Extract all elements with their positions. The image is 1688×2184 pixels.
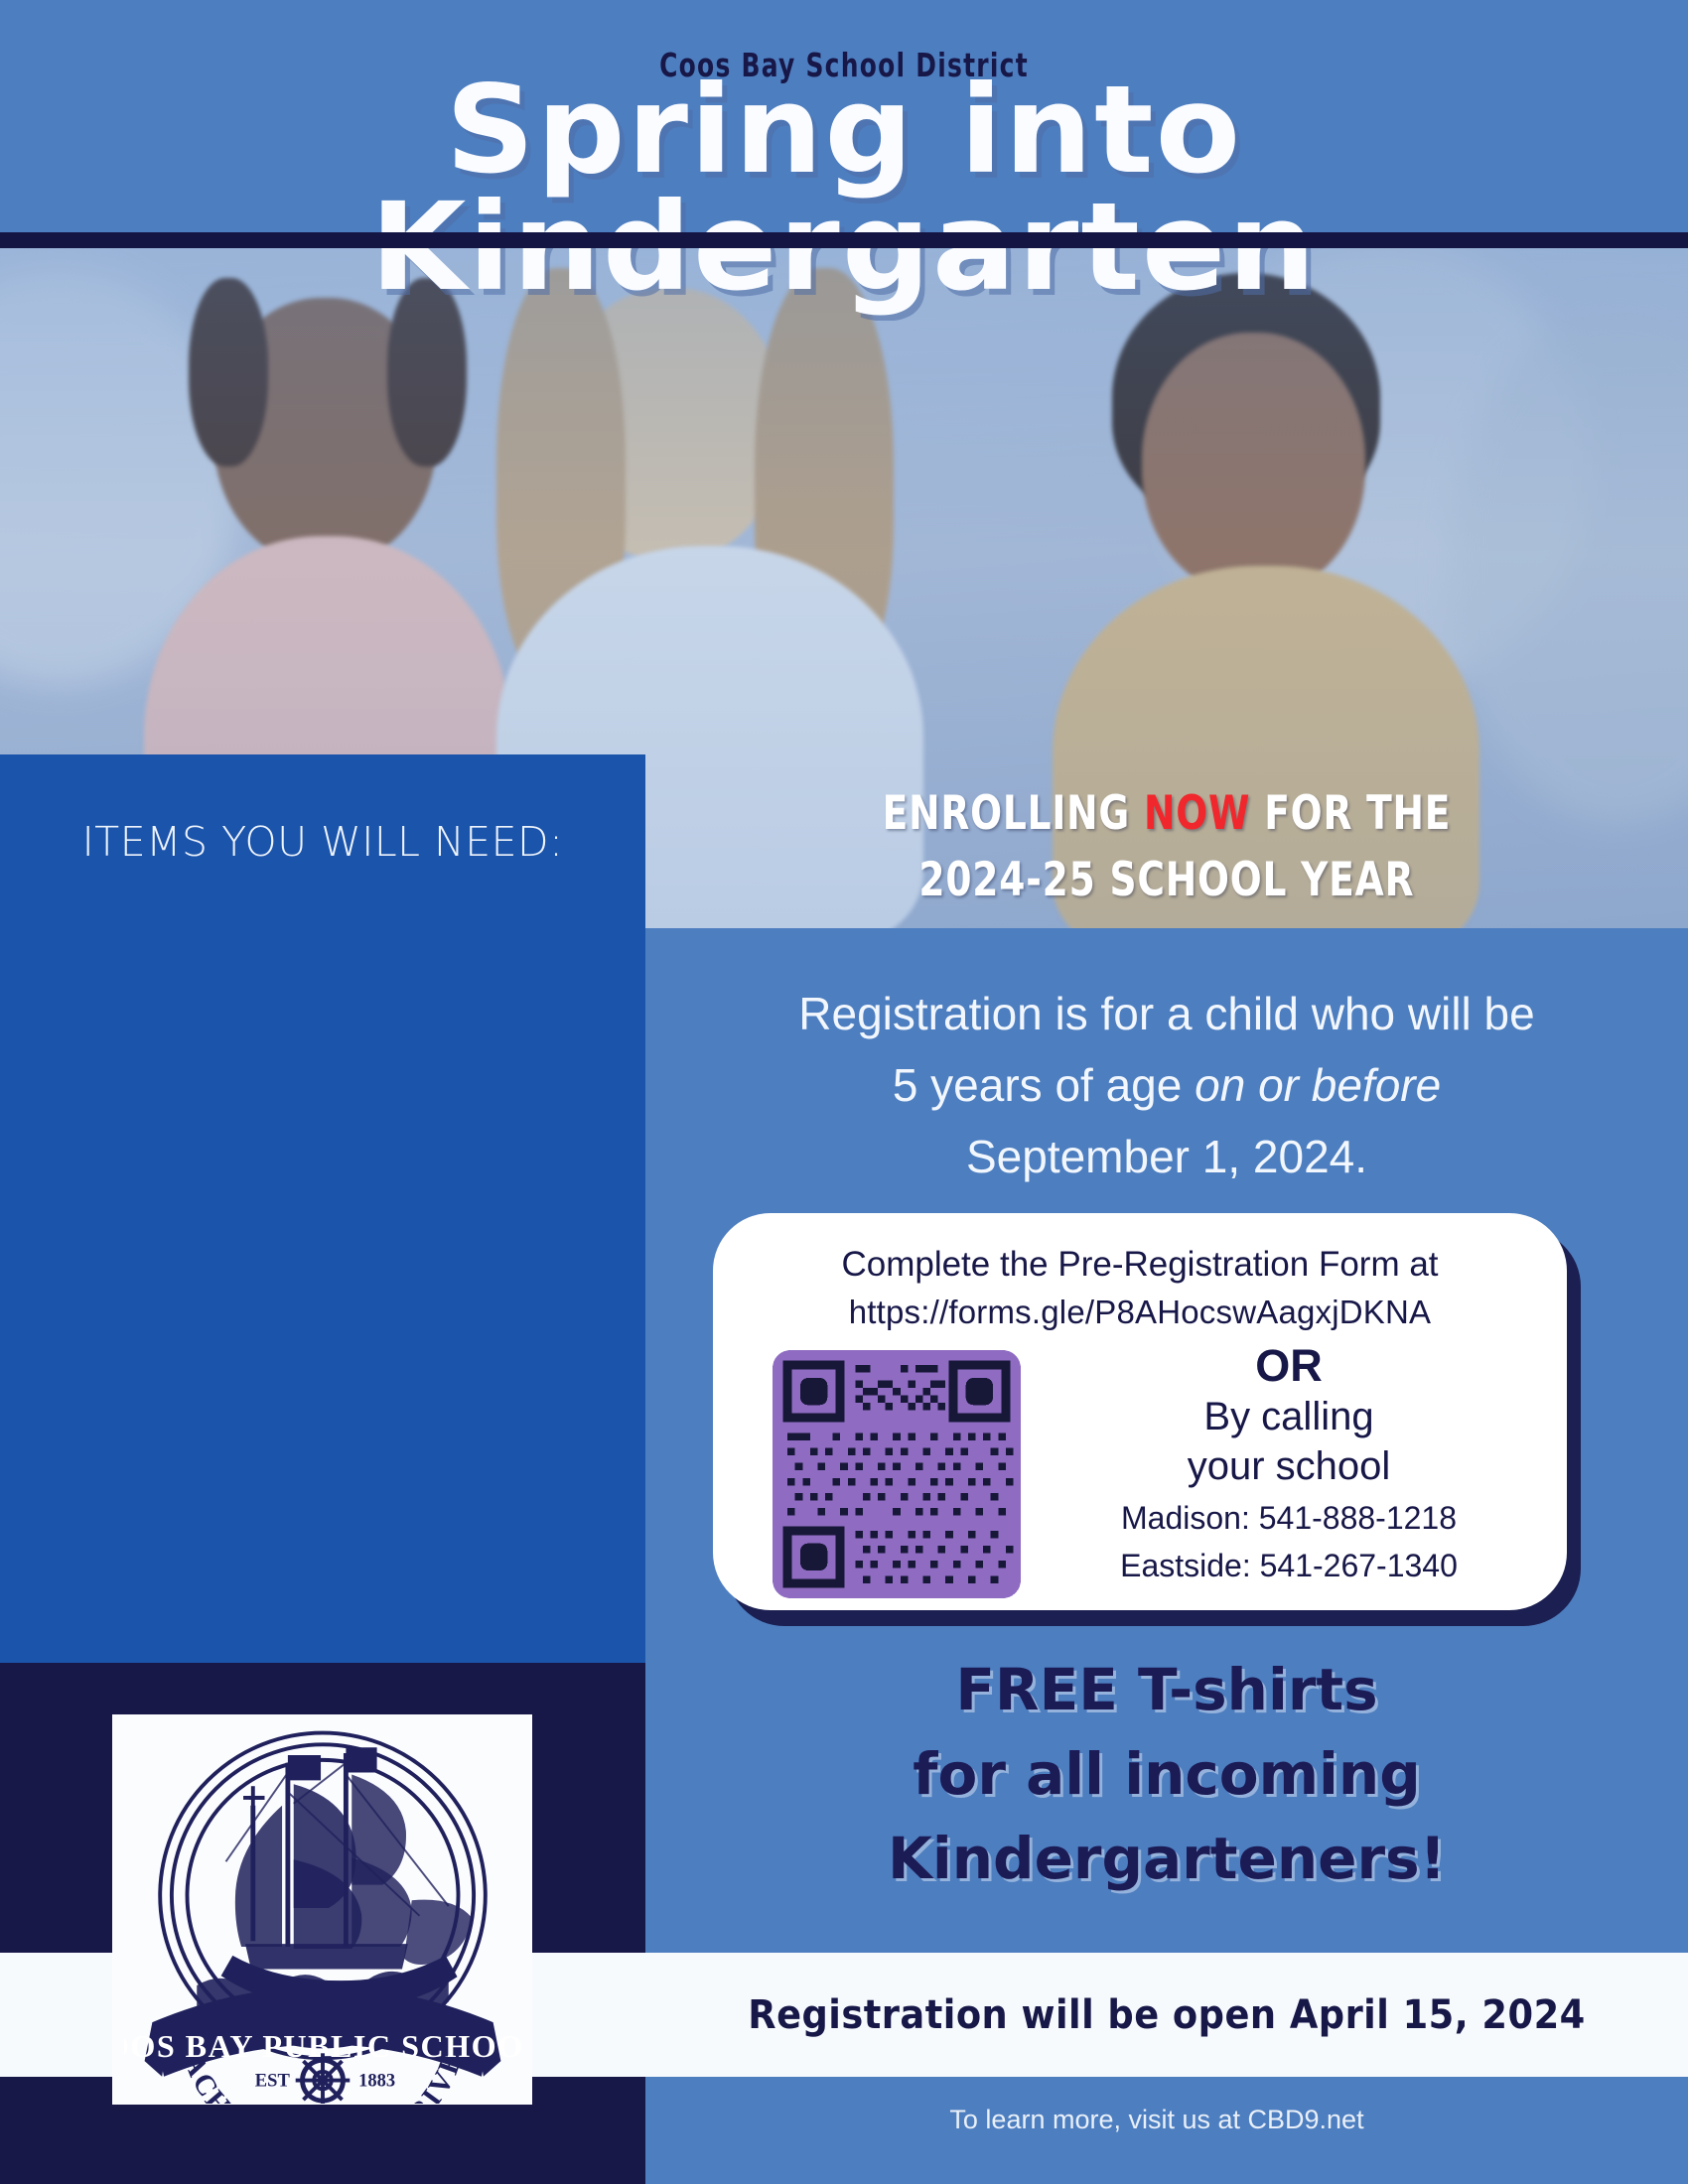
enrolling-prefix: ENROLLING xyxy=(883,786,1144,841)
eligibility-text: Registration is for a child who will be … xyxy=(660,978,1673,1192)
logo-est-label: EST xyxy=(254,2070,290,2091)
items-heading-label: ITEMS YOU WILL NEED: xyxy=(82,818,564,866)
qr-code-icon[interactable] xyxy=(773,1350,1021,1598)
eligibility-line-2-italic: on or before xyxy=(1195,1059,1441,1111)
card-prompt: Complete the Pre-Registration Form at xyxy=(713,1241,1567,1289)
phone-madison[interactable]: Madison: 541-888-1218 xyxy=(1041,1497,1537,1539)
enrolling-suffix: FOR THE xyxy=(1250,786,1451,841)
card-heading: Complete the Pre-Registration Form at ht… xyxy=(713,1241,1567,1336)
phone-eastside[interactable]: Eastside: 541-267-1340 xyxy=(1041,1545,1537,1586)
enrolling-line-2: 2024-25 SCHOOL YEAR xyxy=(919,853,1415,907)
enrolling-now-highlight: NOW xyxy=(1144,786,1250,841)
call-line-2: your school xyxy=(1041,1441,1537,1491)
learn-more-text: To learn more, visit us at CBD9.net xyxy=(645,2105,1668,2135)
enrolling-banner: ENROLLING NOW FOR THE 2024-25 SCHOOL YEA… xyxy=(645,764,1688,928)
eligibility-line-1: Registration is for a child who will be xyxy=(660,978,1673,1049)
flyer-page: Coos Bay School District Spring into Kin… xyxy=(0,0,1688,2184)
eligibility-line-2-plain: 5 years of age xyxy=(893,1059,1195,1111)
items-panel xyxy=(0,928,645,1663)
district-logo: COOS BAY PUBLIC SCHOOLS EST 1883 EACH ST… xyxy=(112,1714,532,2105)
eligibility-line-3: September 1, 2024. xyxy=(660,1121,1673,1192)
items-heading: ITEMS YOU WILL NEED: xyxy=(0,754,645,928)
call-line-1: By calling xyxy=(1041,1392,1537,1441)
tshirt-line-2: for all incoming xyxy=(660,1732,1673,1817)
tshirt-promo: FREE T-shirts for all incoming Kindergar… xyxy=(660,1648,1673,1901)
sailing-ship-seal-icon: COOS BAY PUBLIC SCHOOLS EST 1883 EACH ST… xyxy=(124,1716,521,2104)
enrolling-line-1: ENROLLING NOW FOR THE xyxy=(883,786,1452,841)
ships-wheel-icon xyxy=(295,2053,350,2104)
registration-card: Complete the Pre-Registration Form at ht… xyxy=(713,1213,1567,1610)
card-url[interactable]: https://forms.gle/P8AHocswAagxjDKNA xyxy=(713,1289,1567,1336)
tshirt-line-3: Kindergarteners! xyxy=(660,1817,1673,1901)
page-title: Spring into Kindergarten xyxy=(0,71,1688,306)
eligibility-line-2: 5 years of age on or before xyxy=(660,1049,1673,1121)
logo-est-year: 1883 xyxy=(358,2070,395,2091)
title-line-1: Spring into xyxy=(0,71,1688,189)
open-date-text: Registration will be open April 15, 2024 xyxy=(687,1992,1646,2038)
call-info: OR By calling your school Madison: 541-8… xyxy=(1041,1340,1537,1586)
header-divider xyxy=(0,232,1688,248)
or-label: OR xyxy=(1041,1340,1537,1392)
tshirt-line-1: FREE T-shirts xyxy=(660,1648,1673,1732)
